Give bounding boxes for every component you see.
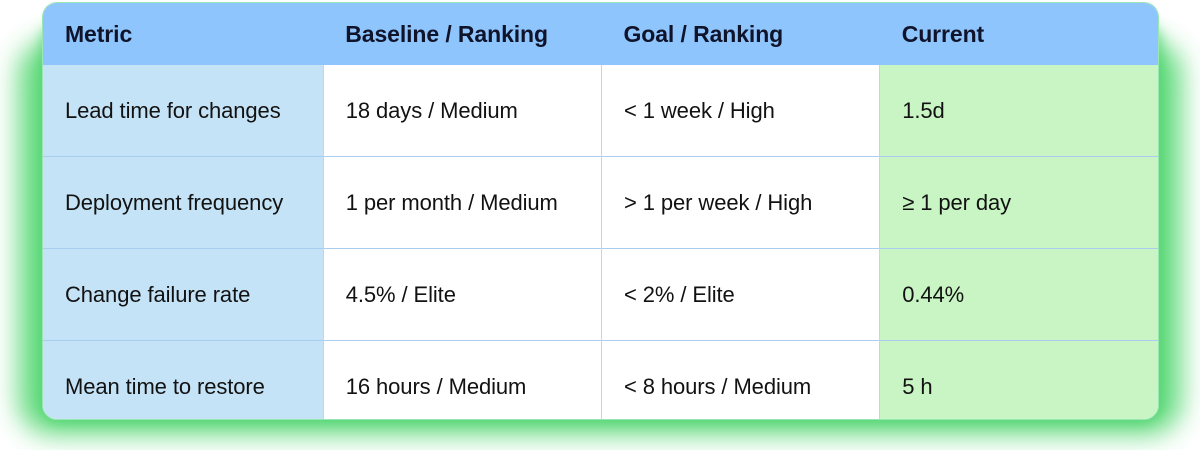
cell-baseline-value: 4.5% / Elite	[323, 249, 601, 341]
table-body: Lead time for changes 18 days / Medium <…	[43, 65, 1158, 420]
cell-metric-name: Change failure rate	[43, 249, 323, 341]
metrics-card: Metric Baseline / Ranking Goal / Ranking…	[42, 2, 1159, 420]
cell-baseline-value: 1 per month / Medium	[323, 157, 601, 249]
cell-goal-value: > 1 per week / High	[601, 157, 879, 249]
cell-baseline-value: 18 days / Medium	[323, 65, 601, 157]
column-header-metric: Metric	[43, 3, 323, 65]
table-row: Deployment frequency 1 per month / Mediu…	[43, 157, 1158, 249]
metrics-table: Metric Baseline / Ranking Goal / Ranking…	[43, 3, 1158, 420]
table-header: Metric Baseline / Ranking Goal / Ranking…	[43, 3, 1158, 65]
cell-current-value: 0.44%	[880, 249, 1158, 341]
cell-current-value: ≥ 1 per day	[880, 157, 1158, 249]
header-row: Metric Baseline / Ranking Goal / Ranking…	[43, 3, 1158, 65]
cell-metric-name: Lead time for changes	[43, 65, 323, 157]
cell-goal-value: < 2% / Elite	[601, 249, 879, 341]
column-header-goal: Goal / Ranking	[601, 3, 879, 65]
column-header-baseline: Baseline / Ranking	[323, 3, 601, 65]
cell-metric-name: Deployment frequency	[43, 157, 323, 249]
column-header-current: Current	[880, 3, 1158, 65]
table-row: Mean time to restore 16 hours / Medium <…	[43, 341, 1158, 421]
table-row: Change failure rate 4.5% / Elite < 2% / …	[43, 249, 1158, 341]
cell-current-value: 5 h	[880, 341, 1158, 421]
cell-baseline-value: 16 hours / Medium	[323, 341, 601, 421]
cell-metric-name: Mean time to restore	[43, 341, 323, 421]
table-row: Lead time for changes 18 days / Medium <…	[43, 65, 1158, 157]
cell-current-value: 1.5d	[880, 65, 1158, 157]
cell-goal-value: < 8 hours / Medium	[601, 341, 879, 421]
cell-goal-value: < 1 week / High	[601, 65, 879, 157]
